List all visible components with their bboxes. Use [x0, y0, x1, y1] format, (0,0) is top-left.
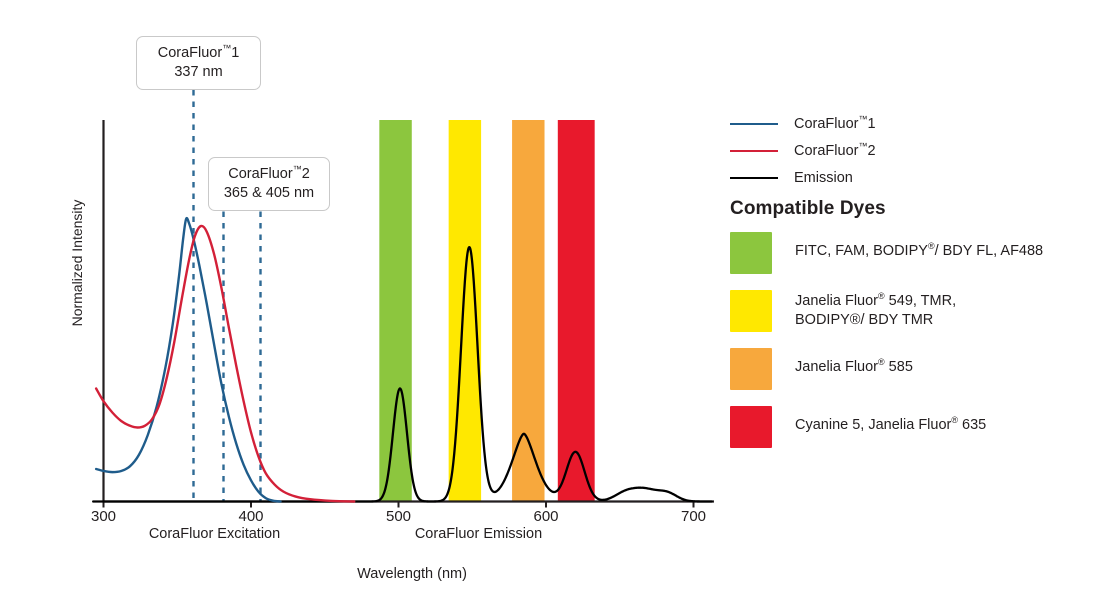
legend: CoraFluor™1CoraFluor™2Emission: [730, 110, 1100, 191]
side-panel: CoraFluor™1CoraFluor™2Emission Compatibl…: [730, 0, 1110, 612]
dye-item-label: Janelia Fluor® 585: [795, 348, 913, 377]
callout-1-line1: CoraFluor™1: [147, 44, 250, 63]
callout-2-line1: CoraFluor™2: [219, 165, 319, 184]
dye-color-swatch: [730, 290, 772, 332]
x-tick-label-700: 700: [664, 508, 724, 525]
compatible-dyes-list: FITC, FAM, BODIPY®/ BDY FL, AF488Janelia…: [730, 232, 1105, 464]
dye-item-3: Cyanine 5, Janelia Fluor® 635: [730, 406, 1105, 448]
callout-1-line2: 337 nm: [147, 63, 250, 82]
callout-corafluor-1: CoraFluor™1 337 nm: [136, 36, 261, 90]
dye-color-swatch: [730, 406, 772, 448]
callout-corafluor-2: CoraFluor™2 365 & 405 nm: [208, 157, 330, 211]
legend-item-label: Emission: [794, 170, 853, 186]
legend-item-0: CoraFluor™1: [730, 110, 1100, 137]
x-sublabel-emission: CoraFluor Emission: [406, 526, 551, 542]
dye-bands-group: [379, 120, 594, 502]
dye-band-0: [379, 120, 411, 502]
dye-item-label: Janelia Fluor® 549, TMR,BODIPY®/ BDY TMR: [795, 290, 956, 330]
dye-item-label: FITC, FAM, BODIPY®/ BDY FL, AF488: [795, 232, 1043, 261]
legend-item-label: CoraFluor™1: [794, 116, 876, 132]
dye-band-3: [558, 120, 595, 502]
legend-item-1: CoraFluor™2: [730, 137, 1100, 164]
callout-2-line2: 365 & 405 nm: [219, 184, 319, 203]
compatible-dyes-title: Compatible Dyes: [730, 198, 886, 220]
dye-color-swatch: [730, 348, 772, 390]
excitation-marker-lines: [194, 90, 261, 502]
dye-color-swatch: [730, 232, 772, 274]
x-sublabel-excitation: CoraFluor Excitation: [143, 526, 286, 542]
y-axis-title: Normalized Intensity: [69, 183, 85, 343]
dye-item-1: Janelia Fluor® 549, TMR,BODIPY®/ BDY TMR: [730, 290, 1105, 332]
dye-item-0: FITC, FAM, BODIPY®/ BDY FL, AF488: [730, 232, 1105, 274]
dye-item-label: Cyanine 5, Janelia Fluor® 635: [795, 406, 986, 435]
legend-line-icon: [730, 150, 778, 152]
spectra-figure: CoraFluor™1 337 nm CoraFluor™2 365 & 405…: [0, 0, 1110, 612]
dye-item-2: Janelia Fluor® 585: [730, 348, 1105, 390]
x-tick-label-600: 600: [516, 508, 576, 525]
legend-item-label: CoraFluor™2: [794, 143, 876, 159]
x-tick-label-500: 500: [369, 508, 429, 525]
x-axis-title: Wavelength (nm): [292, 566, 532, 582]
legend-line-icon: [730, 123, 778, 125]
plot-area: CoraFluor™1 337 nm CoraFluor™2 365 & 405…: [0, 0, 730, 612]
legend-item-2: Emission: [730, 164, 1100, 191]
x-tick-label-300: 300: [74, 508, 134, 525]
x-tick-label-400: 400: [221, 508, 281, 525]
legend-line-icon: [730, 177, 778, 179]
